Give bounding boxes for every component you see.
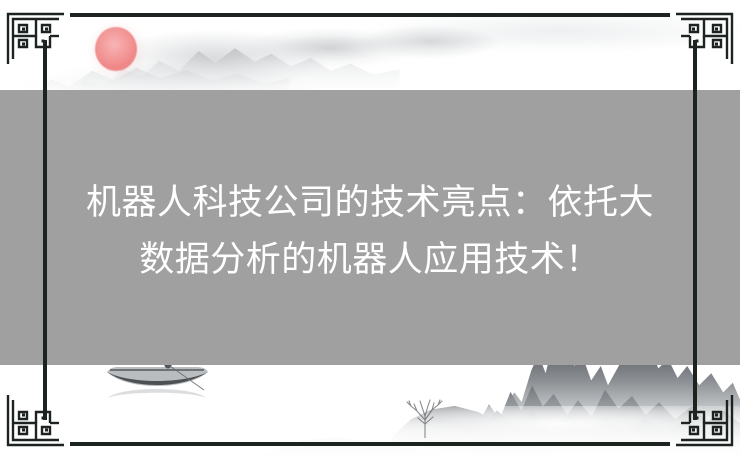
frame-rule-bottom	[70, 442, 670, 446]
red-sun	[95, 27, 137, 71]
page-title: 机器人科技公司的技术亮点：依托大 数据分析的机器人应用技术！	[46, 175, 694, 288]
corner-ornament-top-right-icon	[674, 6, 734, 66]
lower-mist-veil	[0, 406, 740, 459]
corner-ornament-top-left-icon	[6, 6, 66, 66]
corner-ornament-bottom-left-icon	[6, 393, 66, 453]
frame-rule-left	[43, 40, 47, 420]
poster-canvas: 机器人科技公司的技术亮点：依托大 数据分析的机器人应用技术！	[0, 0, 740, 459]
corner-ornament-bottom-right-icon	[674, 393, 734, 453]
bare-tree-icon	[398, 398, 454, 438]
frame-rule-top	[70, 13, 670, 17]
frame-rule-right	[693, 40, 697, 420]
